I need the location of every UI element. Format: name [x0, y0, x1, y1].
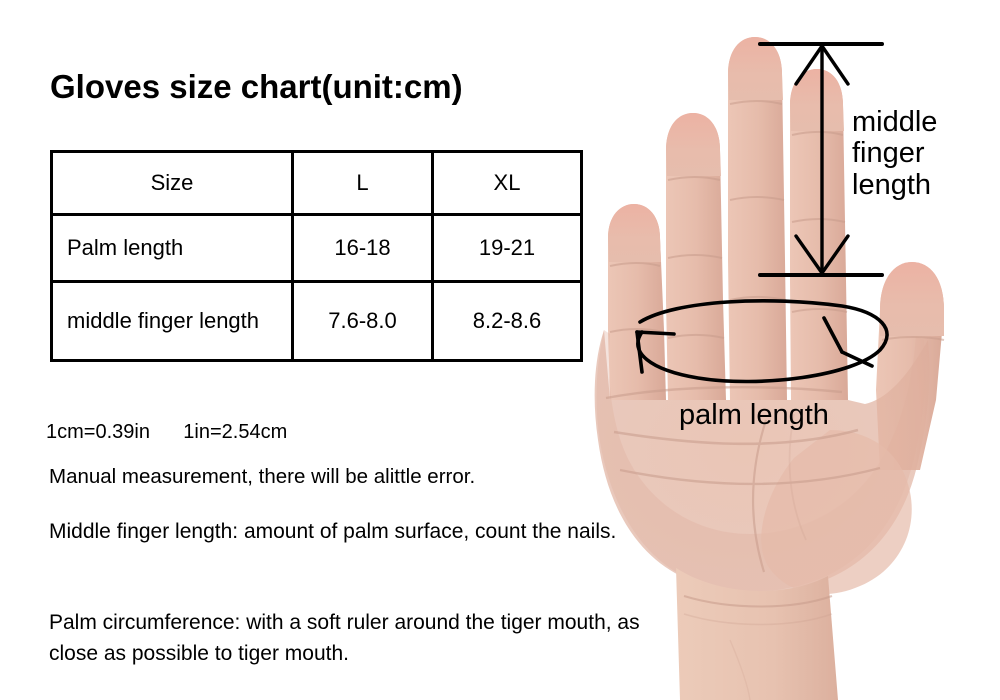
row-label-palm-length: Palm length [52, 215, 293, 282]
cell-middle-finger-length-l: 7.6-8.0 [293, 282, 433, 361]
palm-arrowhead-a [637, 332, 674, 334]
note-unit-conversion: 1cm=0.39in 1in=2.54cm [46, 422, 287, 442]
cell-middle-finger-length-xl: 8.2-8.6 [433, 282, 582, 361]
table-header-row: Size L XL [52, 152, 582, 215]
row-label-middle-finger-length: middle finger length [52, 282, 293, 361]
header-cell-xl: XL [433, 152, 582, 215]
header-cell-l: L [293, 152, 433, 215]
hand-diagram [580, 0, 1000, 700]
header-cell-size: Size [52, 152, 293, 215]
page-title: Gloves size chart(unit:cm) [50, 68, 463, 106]
label-palm-length: palm length [679, 400, 829, 431]
cell-palm-length-l: 16-18 [293, 215, 433, 282]
note-manual-measurement: Manual measurement, there will be alittl… [49, 467, 475, 488]
label-middle-finger-length: middle finger length [852, 107, 937, 201]
hand-illustration-svg [580, 0, 1000, 700]
size-chart-page: Gloves size chart(unit:cm) Size L XL Pal… [0, 0, 1000, 700]
table-row: Palm length 16-18 19-21 [52, 215, 582, 282]
cell-palm-length-xl: 19-21 [433, 215, 582, 282]
size-chart-table: Size L XL Palm length 16-18 19-21 middle… [50, 150, 583, 362]
table-row: middle finger length 7.6-8.0 8.2-8.6 [52, 282, 582, 361]
